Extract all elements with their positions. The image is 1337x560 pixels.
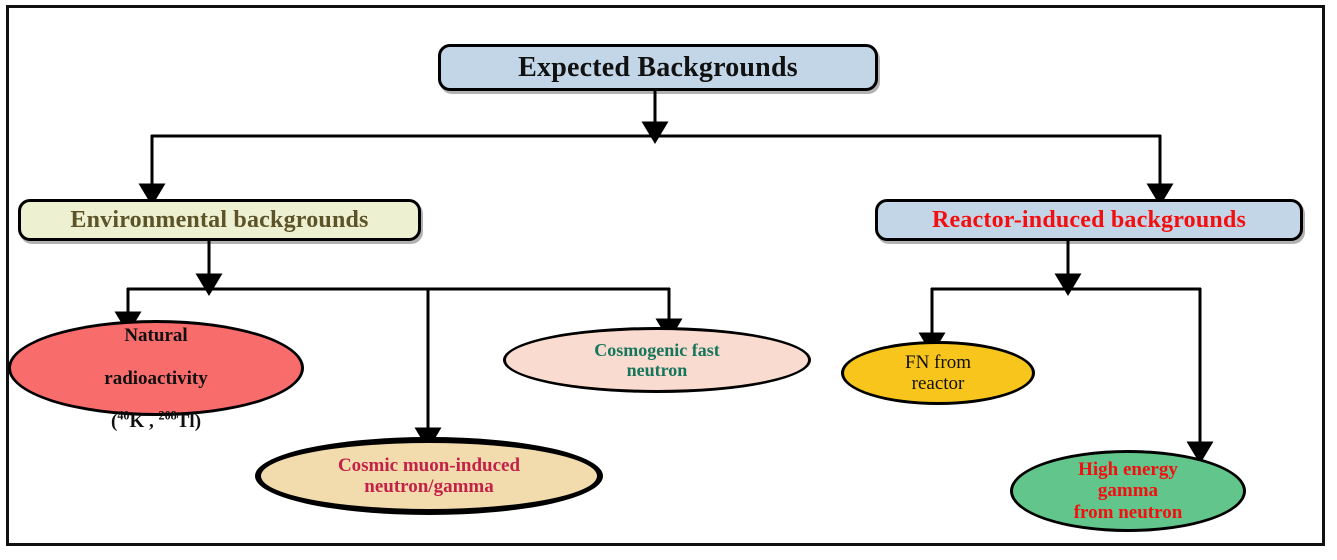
node-cosmic-muon-induced: Cosmic muon-induced neutron/gamma <box>255 437 603 515</box>
node-natural-radioactivity-label: Natural radioactivity (40K , 208Tl) <box>94 304 217 432</box>
isotope-1-mass: 40 <box>117 408 129 422</box>
node-reactor-induced-backgrounds-label: Reactor-induced backgrounds <box>922 207 1256 234</box>
node-cosmogenic-fast-neutron-label: Cosmogenic fast neutron <box>584 340 729 380</box>
isotope-2-symbol: Tl <box>177 411 195 432</box>
node-natural-radioactivity: Natural radioactivity (40K , 208Tl) <box>8 320 304 416</box>
node-high-energy-gamma-label: High energy gamma from neutron <box>1064 459 1193 523</box>
node-high-energy-gamma: High energy gamma from neutron <box>1010 450 1246 532</box>
node-environmental-backgrounds: Environmental backgrounds <box>18 199 421 241</box>
node-cosmogenic-fast-neutron: Cosmogenic fast neutron <box>503 327 811 393</box>
background-taxonomy-diagram: Expected Backgrounds Environmental backg… <box>0 0 1337 560</box>
node-reactor-induced-backgrounds: Reactor-induced backgrounds <box>875 199 1303 241</box>
isotope-suffix: ) <box>195 411 201 432</box>
natural-radioactivity-line1: Natural <box>124 325 187 346</box>
node-fn-from-reactor: FN from reactor <box>841 341 1035 405</box>
node-environmental-backgrounds-label: Environmental backgrounds <box>60 207 378 234</box>
node-cosmic-muon-induced-label: Cosmic muon-induced neutron/gamma <box>328 455 530 498</box>
natural-radioactivity-line2: radioactivity <box>104 368 207 389</box>
isotope-separator: , <box>144 411 158 432</box>
isotope-2-mass: 208 <box>159 408 177 422</box>
node-expected-backgrounds-label: Expected Backgrounds <box>508 52 808 84</box>
isotope-1-symbol: K <box>129 411 144 432</box>
node-fn-from-reactor-label: FN from reactor <box>895 352 981 395</box>
node-expected-backgrounds: Expected Backgrounds <box>438 44 878 91</box>
